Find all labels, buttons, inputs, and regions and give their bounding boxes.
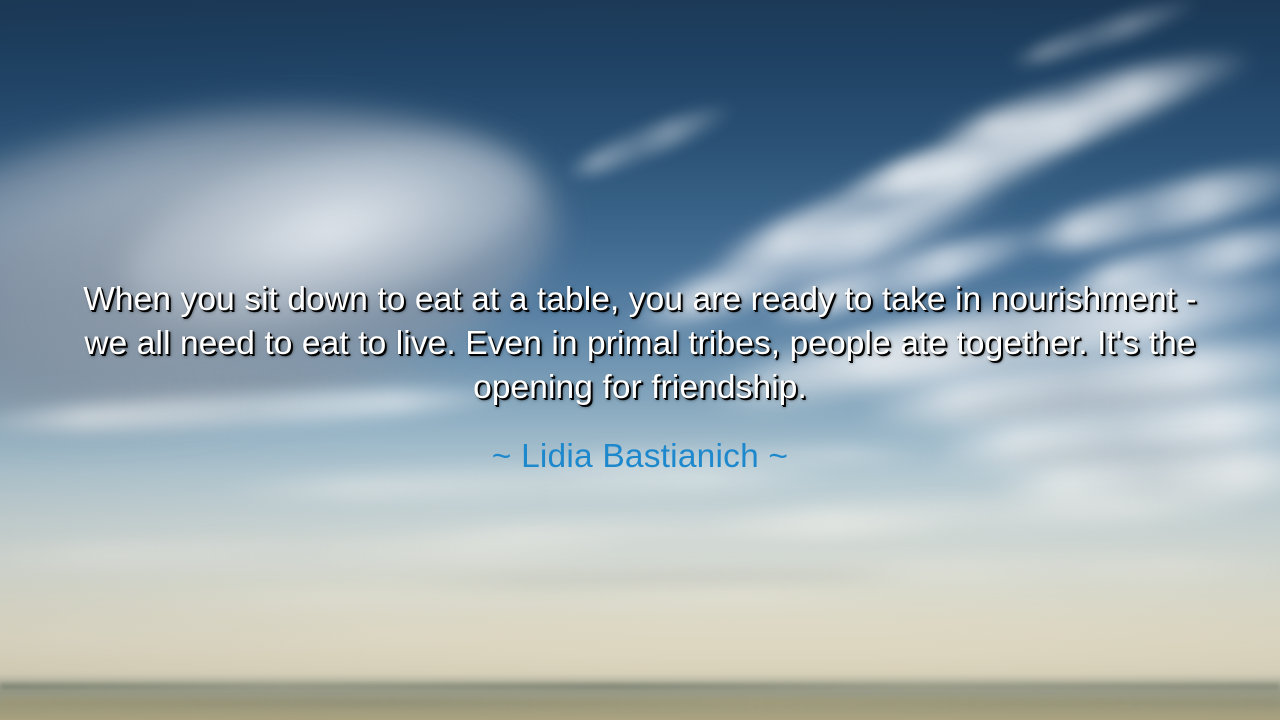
- quote-block: When you sit down to eat at a table, you…: [0, 278, 1280, 410]
- quote-image-canvas: When you sit down to eat at a table, you…: [0, 0, 1280, 720]
- distant-plain-band: [0, 674, 1280, 720]
- distant-treeline: [0, 683, 1280, 690]
- quote-attribution: ~ Lidia Bastianich ~: [0, 437, 1280, 477]
- quote-text: When you sit down to eat at a table, you…: [62, 278, 1218, 410]
- foreground-field: [0, 698, 1280, 708]
